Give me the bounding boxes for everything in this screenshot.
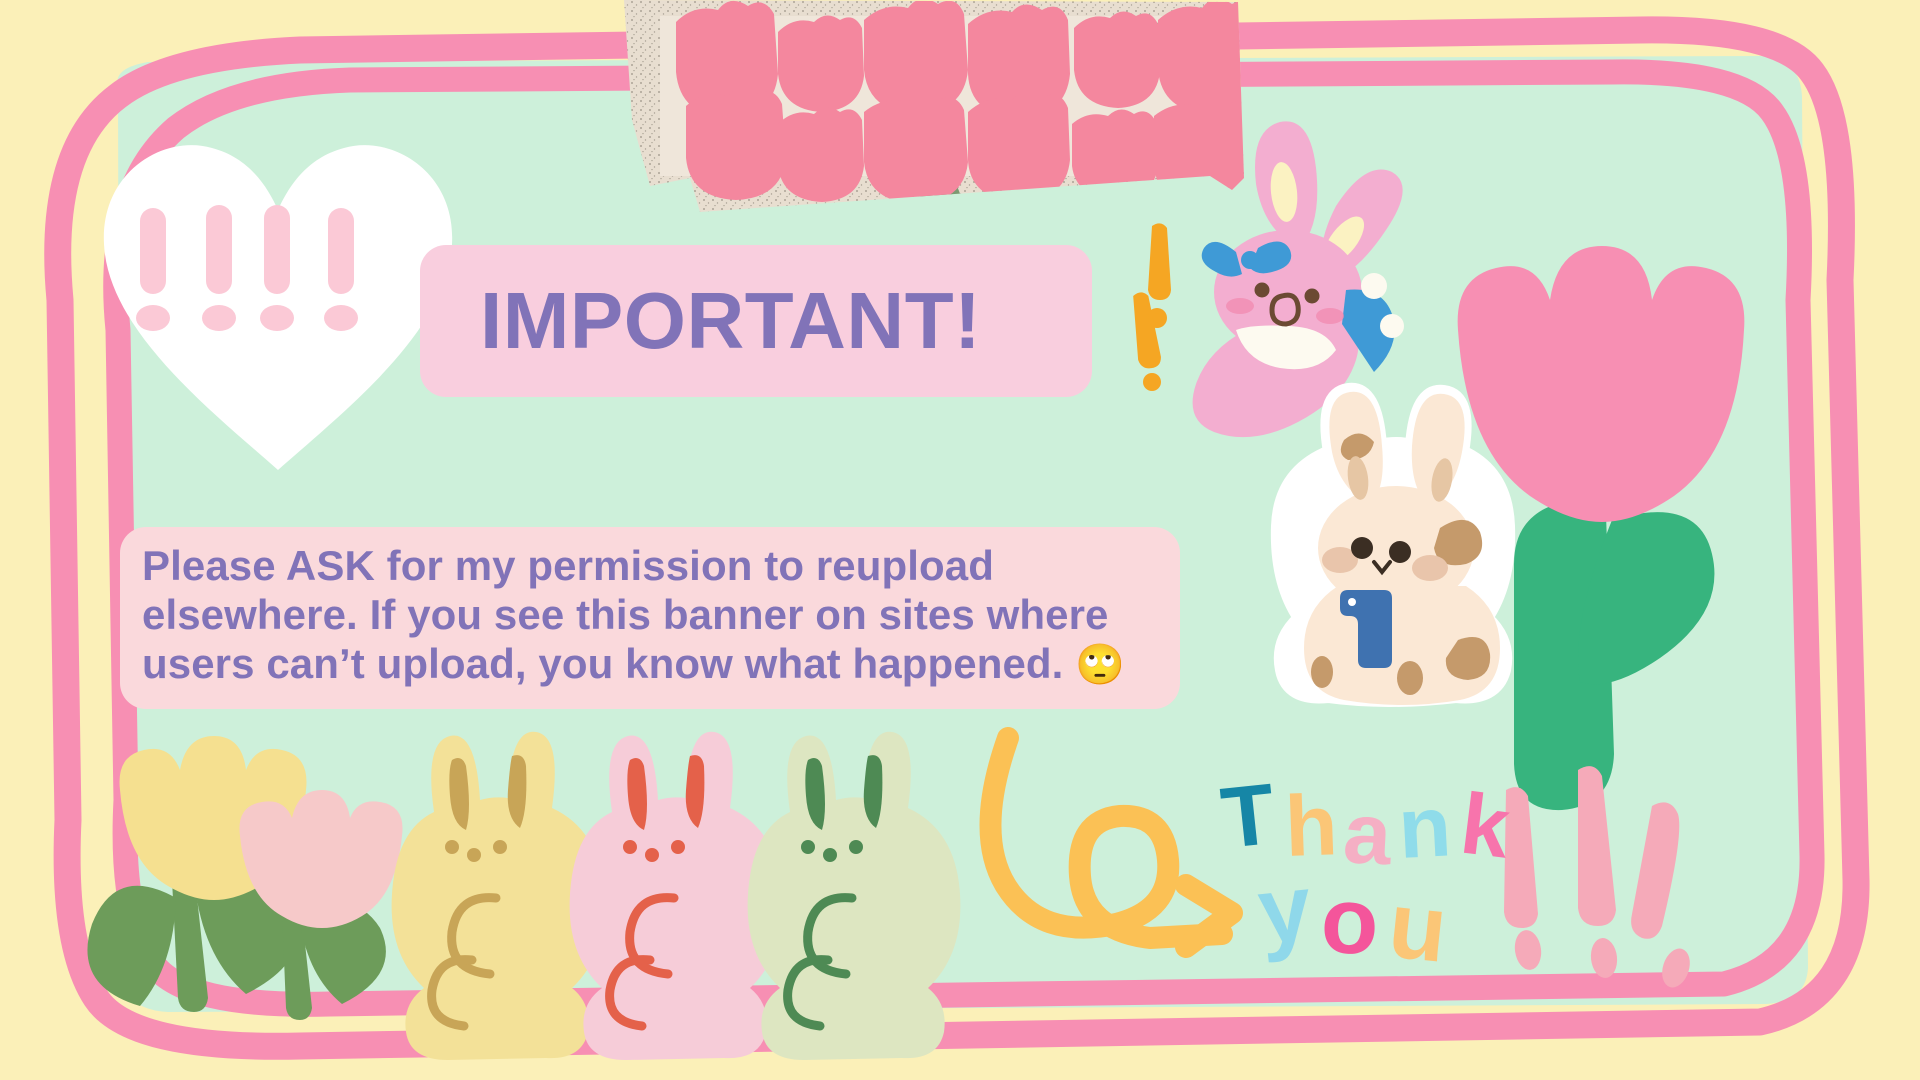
letter-T: T — [1217, 766, 1279, 867]
letter-o: o — [1319, 867, 1380, 974]
letter-y: y — [1253, 854, 1316, 964]
letter-n: n — [1396, 778, 1453, 877]
letter-u: u — [1384, 871, 1452, 981]
letter-k: k — [1456, 776, 1515, 877]
decorative-notice-banner: IMPORTANT! Please ASK for my permission … — [0, 0, 1920, 1080]
thank-you-lettering: T h a n k y o u — [0, 0, 1920, 1080]
